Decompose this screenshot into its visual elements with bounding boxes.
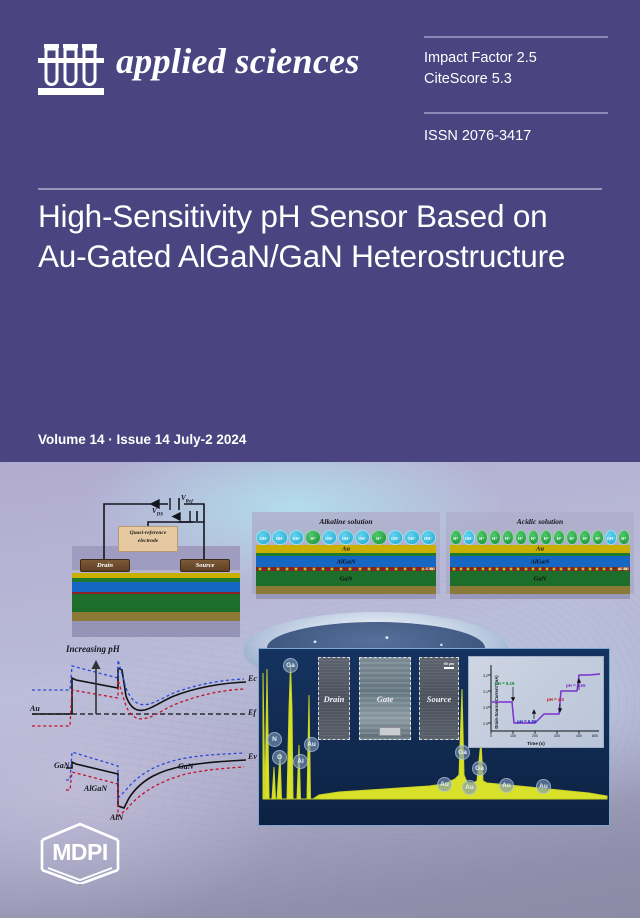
masthead: applied sciences <box>38 38 378 104</box>
layer-gan: GaN <box>256 571 436 586</box>
layer-buffer <box>450 586 630 594</box>
layer-algan: AlGaN <box>450 556 630 567</box>
mdpi-wordmark: MDPI <box>34 839 126 866</box>
ph-annotation: pH = 1.65 <box>566 683 585 688</box>
gate-pad <box>379 727 401 736</box>
ion: H⁺ <box>476 530 488 545</box>
device-layer-stack <box>72 570 240 637</box>
ion: OH⁻ <box>421 530 436 545</box>
eds-peak-label: Ga <box>472 761 487 776</box>
inset-chart-plot: 0100 200300 400800 2.93.0 3.13.2 <box>469 657 605 749</box>
layer-substrate <box>256 594 436 599</box>
scale-bar-label: 50 µm <box>444 662 454 666</box>
sem-label-drain: Drain <box>319 694 349 704</box>
band-label-au: Au <box>30 704 40 713</box>
ion: OH⁻ <box>322 530 337 545</box>
layer-au-label: Au <box>256 546 436 553</box>
cover-header: applied sciences Impact Factor 2.5 CiteS… <box>0 0 640 462</box>
svg-text:200: 200 <box>532 734 538 738</box>
volume-issue-label: Volume 14 · Issue 14 July-2 2024 <box>38 432 246 447</box>
increasing-ph-label: Increasing pH <box>66 644 120 654</box>
alkaline-title: Alkaline solution <box>252 517 440 526</box>
ph-annotation: pH = 9.18 <box>495 681 514 686</box>
eds-peak-label: Au <box>304 737 319 752</box>
mdpi-logo: MDPI <box>34 822 126 884</box>
ion: OH⁻ <box>404 530 419 545</box>
svg-text:3.2: 3.2 <box>483 674 488 678</box>
ion: OH⁻ <box>605 530 617 545</box>
eds-peak-label: Au <box>462 780 477 795</box>
ion: H⁺ <box>502 530 514 545</box>
eds-peak-label: O <box>272 750 287 765</box>
energy-level-ec: Ec <box>248 674 257 683</box>
alkaline-ion-row: OH⁻ OH⁻ OH⁻ H⁺ OH⁻ OH⁻ OH⁻ H⁺ OH⁻ OH⁻ OH… <box>256 530 436 545</box>
vref-label: VRef <box>181 494 193 504</box>
ion: H⁺ <box>450 530 462 545</box>
ion: H⁺ <box>515 530 527 545</box>
page-title: High-Sensitivity pH Sensor Based on Au-G… <box>38 196 598 276</box>
ion: OH⁻ <box>272 530 287 545</box>
svg-text:400: 400 <box>576 734 582 738</box>
alkaline-solution-panel: Alkaline solution OH⁻ OH⁻ OH⁻ H⁺ OH⁻ OH⁻… <box>252 512 440 594</box>
ion: H⁺ <box>592 530 604 545</box>
layer-buffer <box>256 586 436 594</box>
band-label-algan: AlGaN <box>84 784 107 793</box>
ion: H⁺ <box>489 530 501 545</box>
layer-buffer <box>72 612 240 621</box>
citescore: CiteScore 5.3 <box>424 69 610 90</box>
svg-text:100: 100 <box>510 734 516 738</box>
band-diagram-panel: Increasing pH Au GaN AlGaN AlN GaN Ec Ef… <box>14 638 264 828</box>
sem-image-gate: Gate <box>359 657 411 740</box>
ion: H⁺ <box>371 530 386 545</box>
issn-label: ISSN 2076-3417 <box>424 128 610 144</box>
source-contact: Source <box>180 559 230 572</box>
acidic-solution-panel: Acidic solution H⁺ OH⁻ H⁺ H⁺ H⁺ H⁺ H⁺ H⁺… <box>446 512 634 594</box>
layer-algan-label: AlGaN <box>256 558 436 565</box>
layer-au: Au <box>256 545 436 553</box>
ph-annotation: pH = 6.86 <box>517 719 536 724</box>
metrics-block: Impact Factor 2.5 CiteScore 5.3 ISSN 207… <box>424 36 610 144</box>
cover-artwork: VDS VRef Quasi-reference electrode Drain… <box>0 462 640 918</box>
vds-label: VDS <box>152 507 163 517</box>
impact-factor: Impact Factor 2.5 <box>424 48 610 69</box>
inset-x-axis-label: Time (s) <box>469 741 603 746</box>
eds-peak-label: Al <box>293 754 308 769</box>
ion: OH⁻ <box>256 530 271 545</box>
metrics-divider-bottom <box>424 112 608 114</box>
svg-text:3.0: 3.0 <box>483 706 488 710</box>
eds-peak-label: Au <box>536 779 551 794</box>
ion: OH⁻ <box>388 530 403 545</box>
ion: H⁺ <box>579 530 591 545</box>
acidic-title: Acidic solution <box>446 517 634 526</box>
layer-substrate <box>72 621 240 637</box>
test-tube-rack-icon <box>38 40 104 100</box>
journal-cover: applied sciences Impact Factor 2.5 CiteS… <box>0 0 640 918</box>
ion: OH⁻ <box>463 530 475 545</box>
energy-level-ev: Ev <box>248 752 257 761</box>
ion: H⁺ <box>540 530 552 545</box>
layer-au: Au <box>450 545 630 553</box>
svg-text:800: 800 <box>592 734 598 738</box>
layer-algan: AlGaN <box>256 556 436 567</box>
ion: H⁺ <box>528 530 540 545</box>
energy-level-ef: Ef <box>248 708 256 717</box>
band-label-aln: AlN <box>110 813 123 822</box>
layer-gan-label: GaN <box>450 575 630 582</box>
layer-gan-label: GaN <box>256 575 436 582</box>
scale-bar: 50 µm <box>444 662 454 669</box>
eds-peak-label: Ga <box>283 658 298 673</box>
drain-contact: Drain <box>80 559 130 572</box>
title-divider <box>38 188 602 190</box>
svg-text:2.9: 2.9 <box>483 722 488 726</box>
svg-text:0: 0 <box>490 734 492 738</box>
quasi-reference-electrode-box: Quasi-reference electrode <box>118 526 178 552</box>
device-cross-section-panel: VDS VRef Quasi-reference electrode Drain… <box>18 480 246 630</box>
eds-spectrum-panel: Ga N O Al Au Ga Ga Au Au Au Au Drain Gat… <box>258 648 610 826</box>
eds-peak-label: N <box>267 732 282 747</box>
band-label-gan-right: GaN <box>178 762 194 771</box>
inset-chart: 0100 200300 400800 2.93.0 3.13.2 <box>468 656 604 748</box>
svg-text:3.1: 3.1 <box>483 690 488 694</box>
layer-au-label: Au <box>450 546 630 553</box>
ion: H⁺ <box>553 530 565 545</box>
alkaline-layer-stack: Au AlGaN 2DEG GaN <box>256 545 436 599</box>
svg-text:300: 300 <box>554 734 560 738</box>
acidic-ion-row: H⁺ OH⁻ H⁺ H⁺ H⁺ H⁺ H⁺ H⁺ H⁺ H⁺ H⁺ H⁺ OH⁻… <box>450 530 630 545</box>
layer-algan <box>72 582 240 592</box>
sem-image-source: Source 50 µm <box>419 657 459 740</box>
ion: OH⁻ <box>338 530 353 545</box>
layer-gan: GaN <box>450 571 630 586</box>
ion: H⁺ <box>305 530 320 545</box>
eds-peak-label: Au <box>437 777 452 792</box>
layer-gan <box>72 594 240 612</box>
ph-annotation: pH = 4.0 <box>547 697 564 702</box>
sem-label-source: Source <box>420 694 458 704</box>
sem-image-drain: Drain <box>318 657 350 740</box>
band-diagram-curves <box>14 638 264 828</box>
ion: H⁺ <box>618 530 630 545</box>
eds-peak-label: Au <box>499 778 514 793</box>
layer-substrate <box>450 594 630 599</box>
ion: OH⁻ <box>355 530 370 545</box>
acidic-layer-stack: Au AlGaN 2DEG GaN <box>450 545 630 599</box>
ion: H⁺ <box>566 530 578 545</box>
band-label-gan-left: GaN <box>54 761 70 770</box>
layer-algan-label: AlGaN <box>450 558 630 565</box>
ion: OH⁻ <box>289 530 304 545</box>
sem-label-gate: Gate <box>360 694 410 704</box>
journal-title: applied sciences <box>116 40 360 82</box>
